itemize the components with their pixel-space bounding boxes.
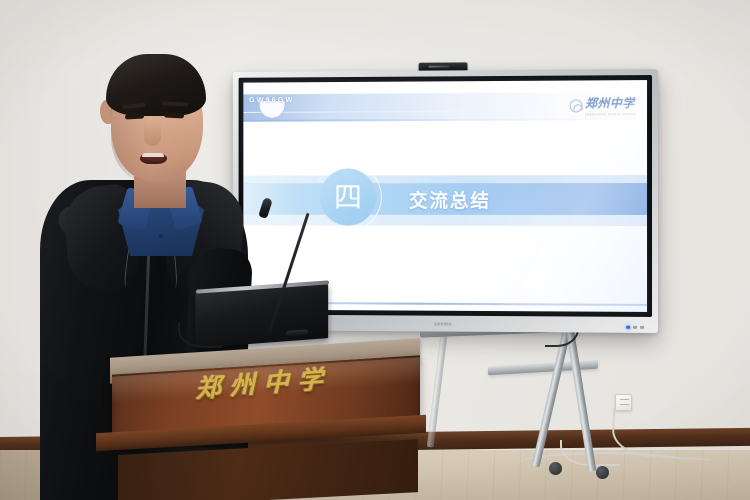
school-seal-icon	[569, 99, 582, 112]
slide-section-title: 交流总结	[409, 186, 491, 213]
school-logo-text-block: 郑州中学 ZHENGZHOU MIDDLE SCHOOL	[585, 94, 637, 116]
nose	[144, 120, 161, 146]
power-led-icon	[626, 326, 630, 329]
school-name-cn: 郑州中学	[585, 96, 635, 110]
slide-corner-badge: GW96GW	[249, 95, 294, 118]
display-led-indicators	[626, 326, 644, 329]
stand-caster-right	[596, 466, 609, 479]
eye-left	[125, 114, 144, 120]
presentation-slide: GW96GW 郑州中学 ZHENGZHOU MIDDLE SCHOOL	[243, 80, 647, 312]
slide-badge-label: GW96GW	[249, 95, 294, 104]
school-name-en: ZHENGZHOU MIDDLE SCHOOL	[585, 113, 637, 116]
presenter-hair	[106, 54, 206, 116]
teeth	[142, 153, 164, 157]
display-screen[interactable]: GW96GW 郑州中学 ZHENGZHOU MIDDLE SCHOOL	[243, 80, 647, 312]
slide-school-logo: 郑州中学 ZHENGZHOU MIDDLE SCHOOL	[569, 94, 637, 116]
status-led-2-icon	[640, 326, 644, 329]
slide-header-rule	[243, 118, 647, 122]
section-number-circle: 四	[320, 168, 376, 225]
display-brand-label: seewo	[434, 322, 452, 328]
status-led-1-icon	[633, 326, 637, 329]
photo-scene: GW96GW 郑州中学 ZHENGZHOU MIDDLE SCHOOL	[0, 0, 750, 500]
stand-caster-left	[549, 462, 562, 475]
polo-button	[159, 234, 163, 238]
eye-right	[164, 112, 184, 118]
section-number-label: 四	[334, 183, 362, 212]
